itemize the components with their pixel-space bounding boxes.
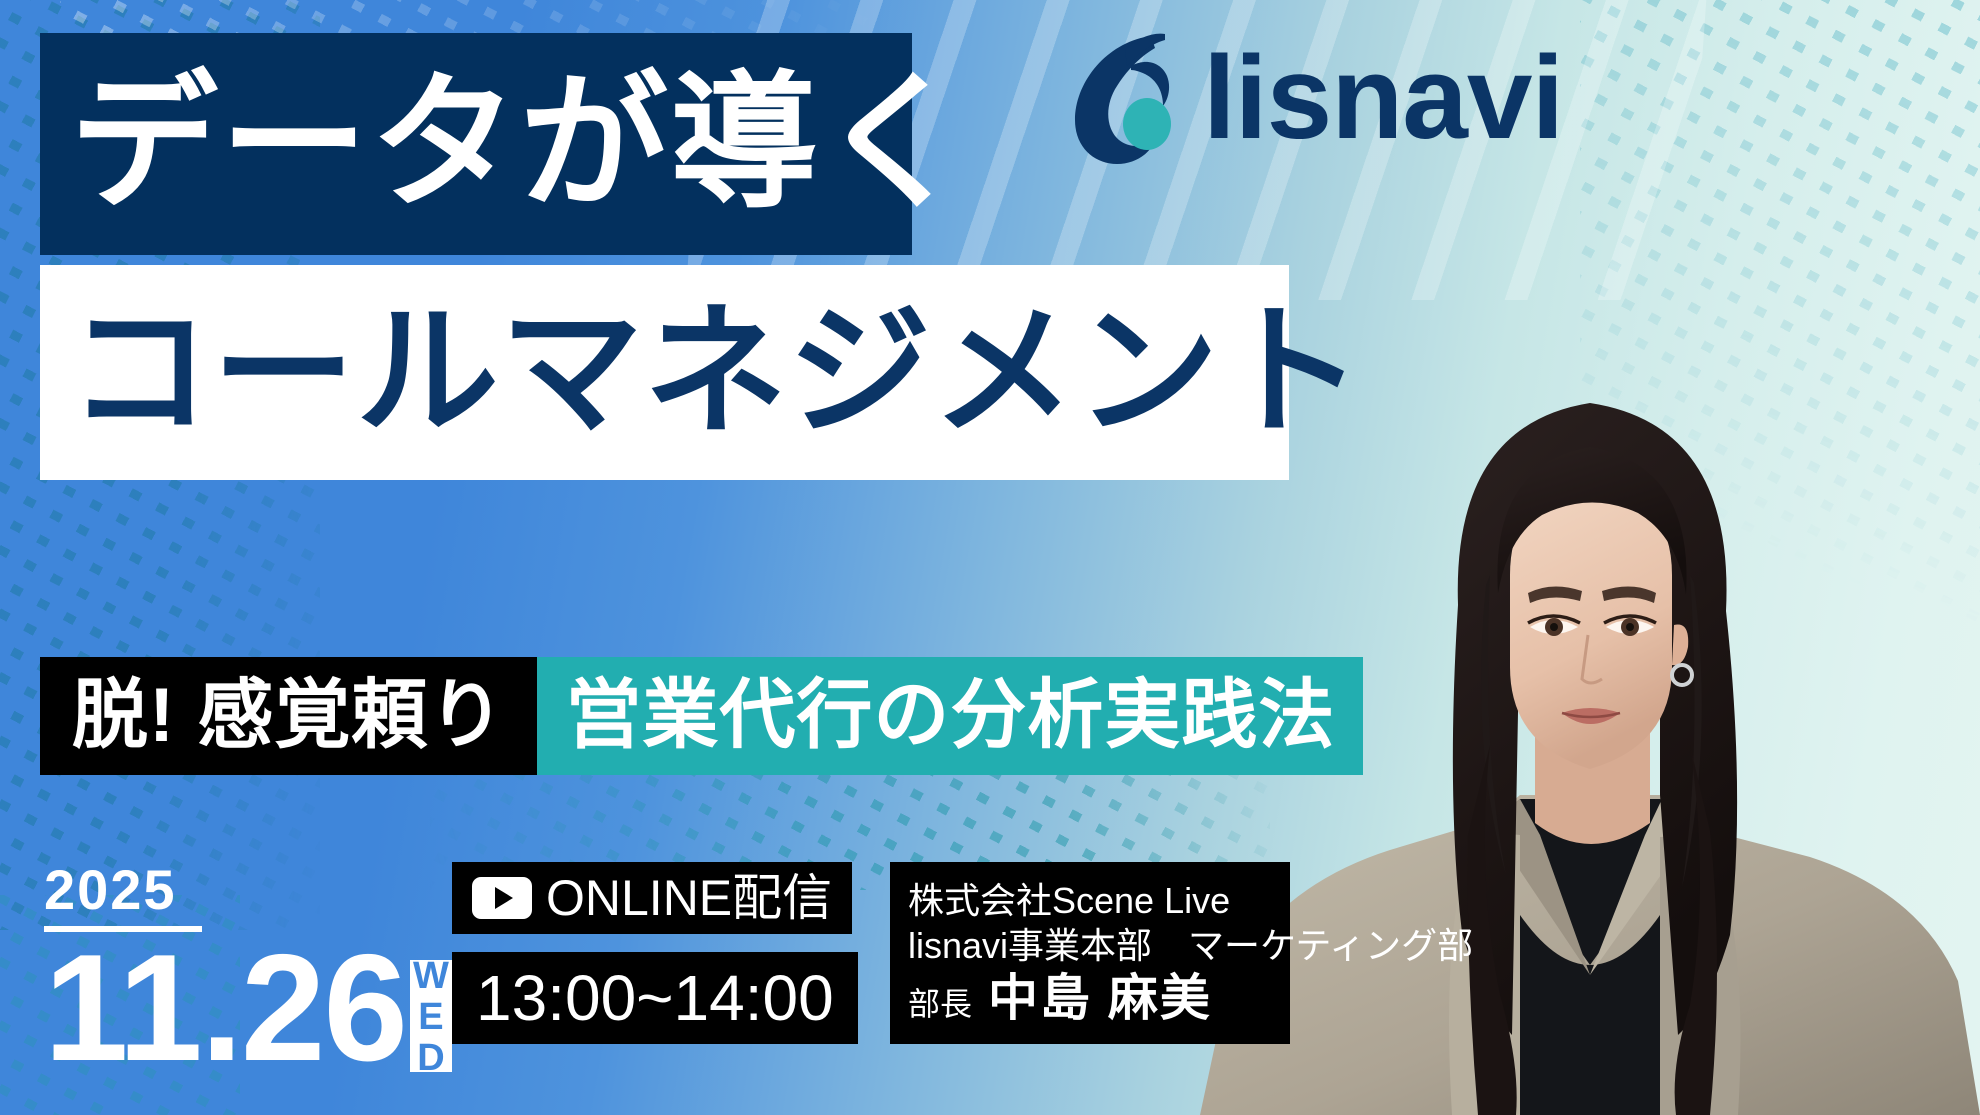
event-date-row: 11.26 WED [44,936,452,1080]
brand-logo-text: lisnavi [1203,39,1563,157]
delivery-label: ONLINE配信 [546,873,832,923]
headline-line-1-text: データが導く [70,70,970,218]
event-time-badge: 13:00~14:00 [452,952,858,1044]
speaker-name: 中島 麻美 [988,969,1212,1028]
subtitle-main: 営業代行の分析実践法 [537,657,1363,775]
event-time-text: 13:00~14:00 [476,966,834,1030]
delivery-badge: ONLINE配信 [452,862,852,934]
event-year: 2025 [44,862,202,932]
speaker-title: 部長 [908,986,972,1024]
event-date: 11.26 [44,936,406,1080]
event-weekday-badge: WED [410,960,452,1072]
event-weekday-text: WED [412,955,450,1078]
webinar-banner: lisnavi データが導く コールマネジメント 脱! 感覚頼り 営業代行の分析… [0,0,1980,1115]
speaker-department: lisnavi事業本部 マーケティング部 [908,925,1272,967]
subtitle-badge-text: 脱! 感覚頼り [72,678,505,754]
brand-logo[interactable]: lisnavi [1055,28,1563,168]
event-date-block: 2025 11.26 WED [44,862,452,1080]
youtube-play-icon [472,877,532,919]
subtitle-badge: 脱! 感覚頼り [40,657,537,775]
subtitle-strip: 脱! 感覚頼り 営業代行の分析実践法 [40,657,1363,775]
speaker-name-row: 部長 中島 麻美 [908,969,1272,1028]
headline-line-2-text: コールマネジメント [68,301,1364,444]
diagonal-dash-pattern-right [1580,0,1980,760]
lisnavi-swoosh-icon [1055,28,1187,168]
headline-line-1: データが導く [40,33,912,255]
headline-line-2: コールマネジメント [40,265,1289,480]
subtitle-main-text: 営業代行の分析実践法 [565,678,1335,754]
speaker-info: 株式会社Scene Live lisnavi事業本部 マーケティング部 部長 中… [890,862,1290,1044]
speaker-company: 株式会社Scene Live [908,880,1272,922]
